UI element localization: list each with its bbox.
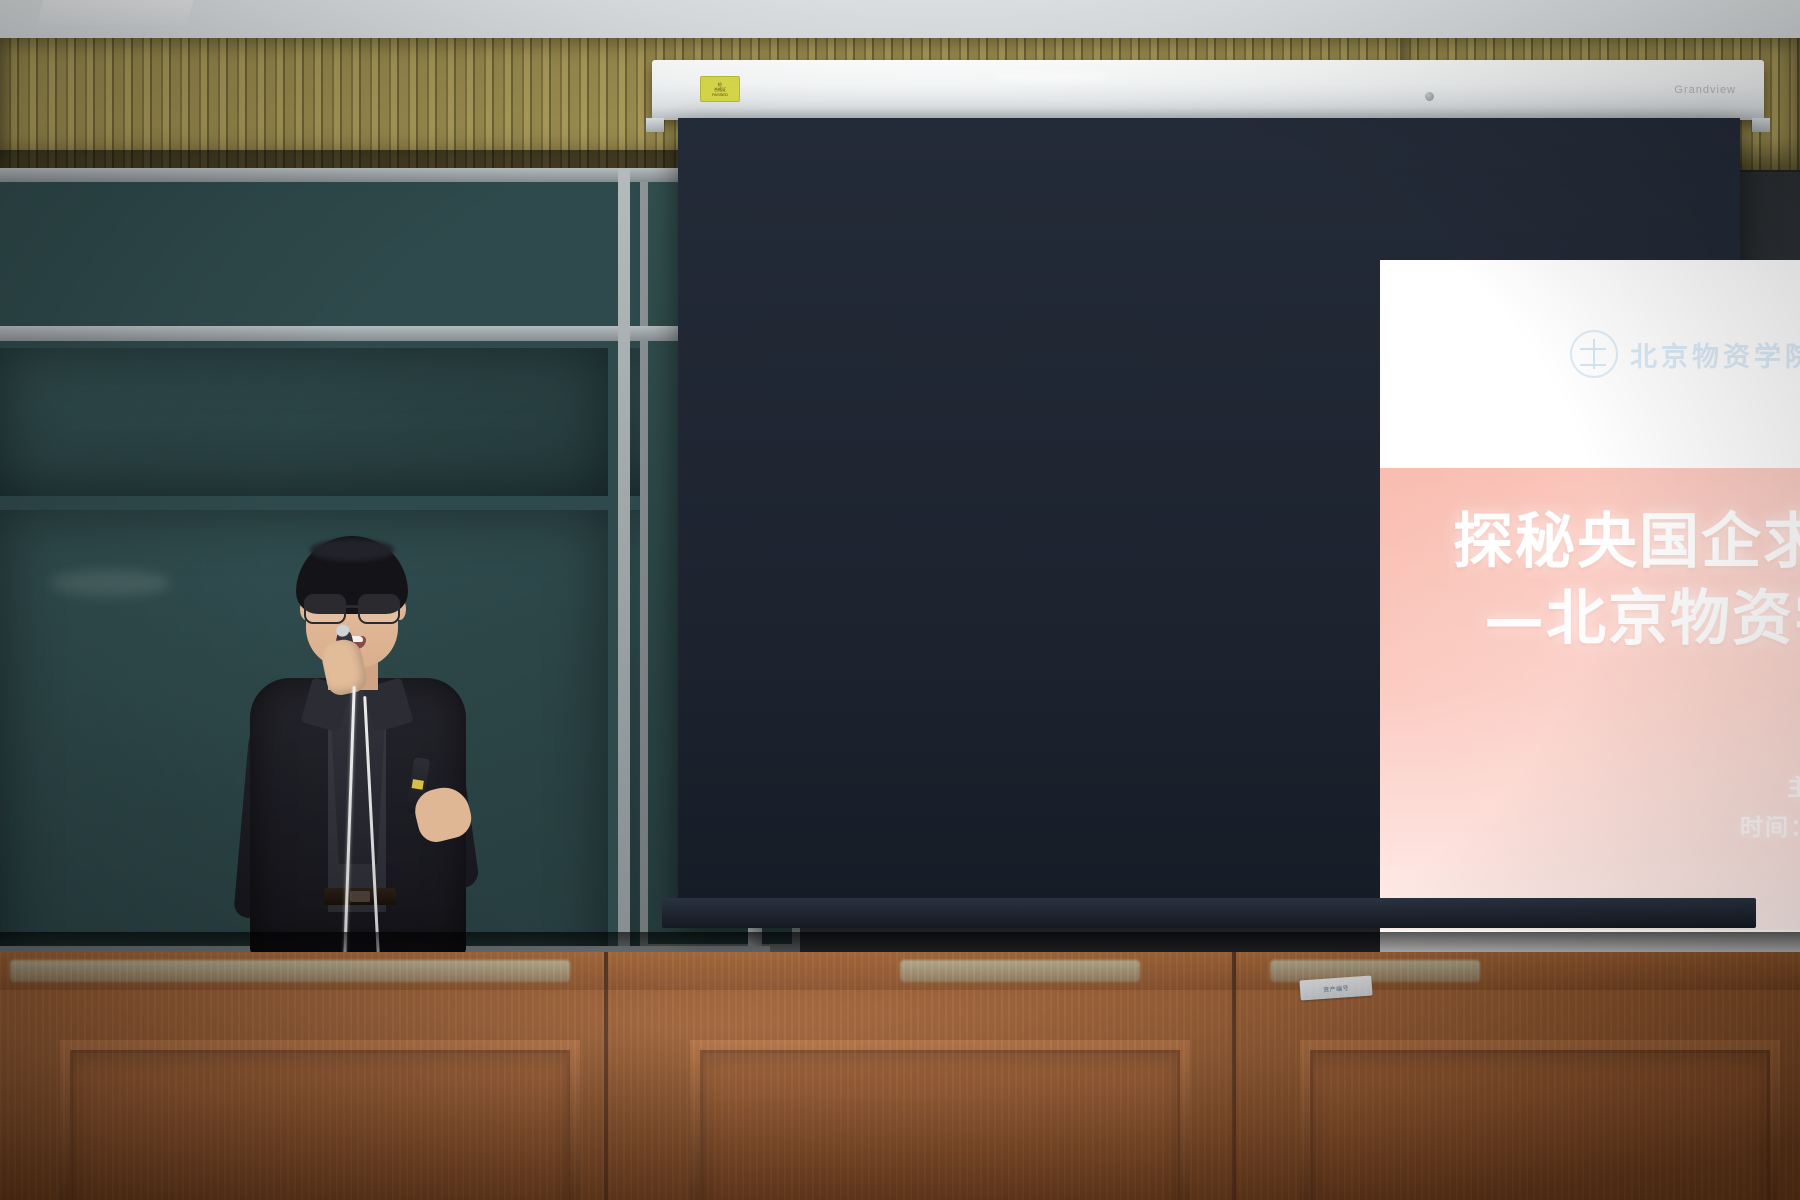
slide-title-block: 探秘央国企求职就业一站式指南 —北京物资学院会计学院专场 bbox=[1380, 504, 1800, 658]
lecture-hall-photo: 检 合格证 PASSED Grandview 北京物资学院 bbox=[0, 0, 1800, 1200]
case-endcap-left bbox=[646, 118, 664, 132]
sticker-line-3: PASSED bbox=[712, 92, 728, 97]
slide-speaker: 主讲专家：张老师 bbox=[1380, 768, 1800, 808]
case-highlight bbox=[992, 72, 1112, 80]
stage-panel-seam bbox=[604, 952, 608, 1200]
university-seal-icon bbox=[1570, 330, 1618, 378]
case-endcap-right bbox=[1752, 118, 1770, 132]
stage-recessed-panel bbox=[60, 1040, 580, 1200]
blackboard-frame-divider bbox=[618, 168, 630, 964]
eyeglass-lens-left bbox=[304, 594, 346, 624]
projection-screen-weight-bar bbox=[662, 898, 1756, 928]
slide-meta-block: 主讲专家：张老师 时间：2023年10月24日 bbox=[1380, 768, 1800, 849]
screen-brand-label: Grandview bbox=[1674, 84, 1736, 96]
blackboard-frame-middle bbox=[0, 326, 770, 341]
eyeglass-bridge bbox=[342, 605, 362, 608]
stage-edge-wear bbox=[1270, 960, 1480, 982]
certification-sticker: 检 合格证 PASSED bbox=[700, 76, 740, 102]
stage-edge-wear bbox=[900, 960, 1140, 982]
blackboard-panel-top-left bbox=[0, 348, 608, 496]
university-name: 北京物资学院 bbox=[1630, 335, 1800, 374]
eyeglasses-icon bbox=[304, 594, 400, 620]
university-logo: 北京物资学院 bbox=[1570, 330, 1800, 378]
stage-recessed-panel bbox=[1300, 1040, 1780, 1200]
ceiling-beam bbox=[37, 0, 193, 26]
stage-panel-seam bbox=[1232, 952, 1236, 1200]
case-screw bbox=[1425, 92, 1434, 101]
slide-banner: 探秘央国企求职就业一站式指南 —北京物资学院会计学院专场 主讲专家：张老师 时间… bbox=[1380, 468, 1800, 930]
stage-recessed-panel bbox=[690, 1040, 1190, 1200]
projector-screen-case[interactable]: 检 合格证 PASSED Grandview bbox=[652, 60, 1764, 120]
eyeglass-lens-right bbox=[358, 594, 400, 624]
blackboard-frame-top bbox=[0, 168, 770, 182]
stage-edge-wear bbox=[10, 960, 570, 982]
slide-logo-row: 北京物资学院 菜鸟无忧 CAINIAO WUYOU bbox=[1380, 308, 1800, 400]
slide-title-line-2: —北京物资学院会计学院专场 bbox=[1380, 581, 1800, 658]
projection-screen[interactable]: 北京物资学院 菜鸟无忧 CAINIAO WUYOU bbox=[678, 118, 1740, 920]
presenter bbox=[228, 536, 488, 956]
presenter-belt bbox=[324, 888, 396, 905]
slide-title-line-1: 探秘央国企求职就业一站式指南 bbox=[1380, 504, 1800, 581]
chalk-smudge bbox=[50, 570, 170, 596]
slide-date: 时间：2023年10月24日 bbox=[1380, 808, 1800, 848]
